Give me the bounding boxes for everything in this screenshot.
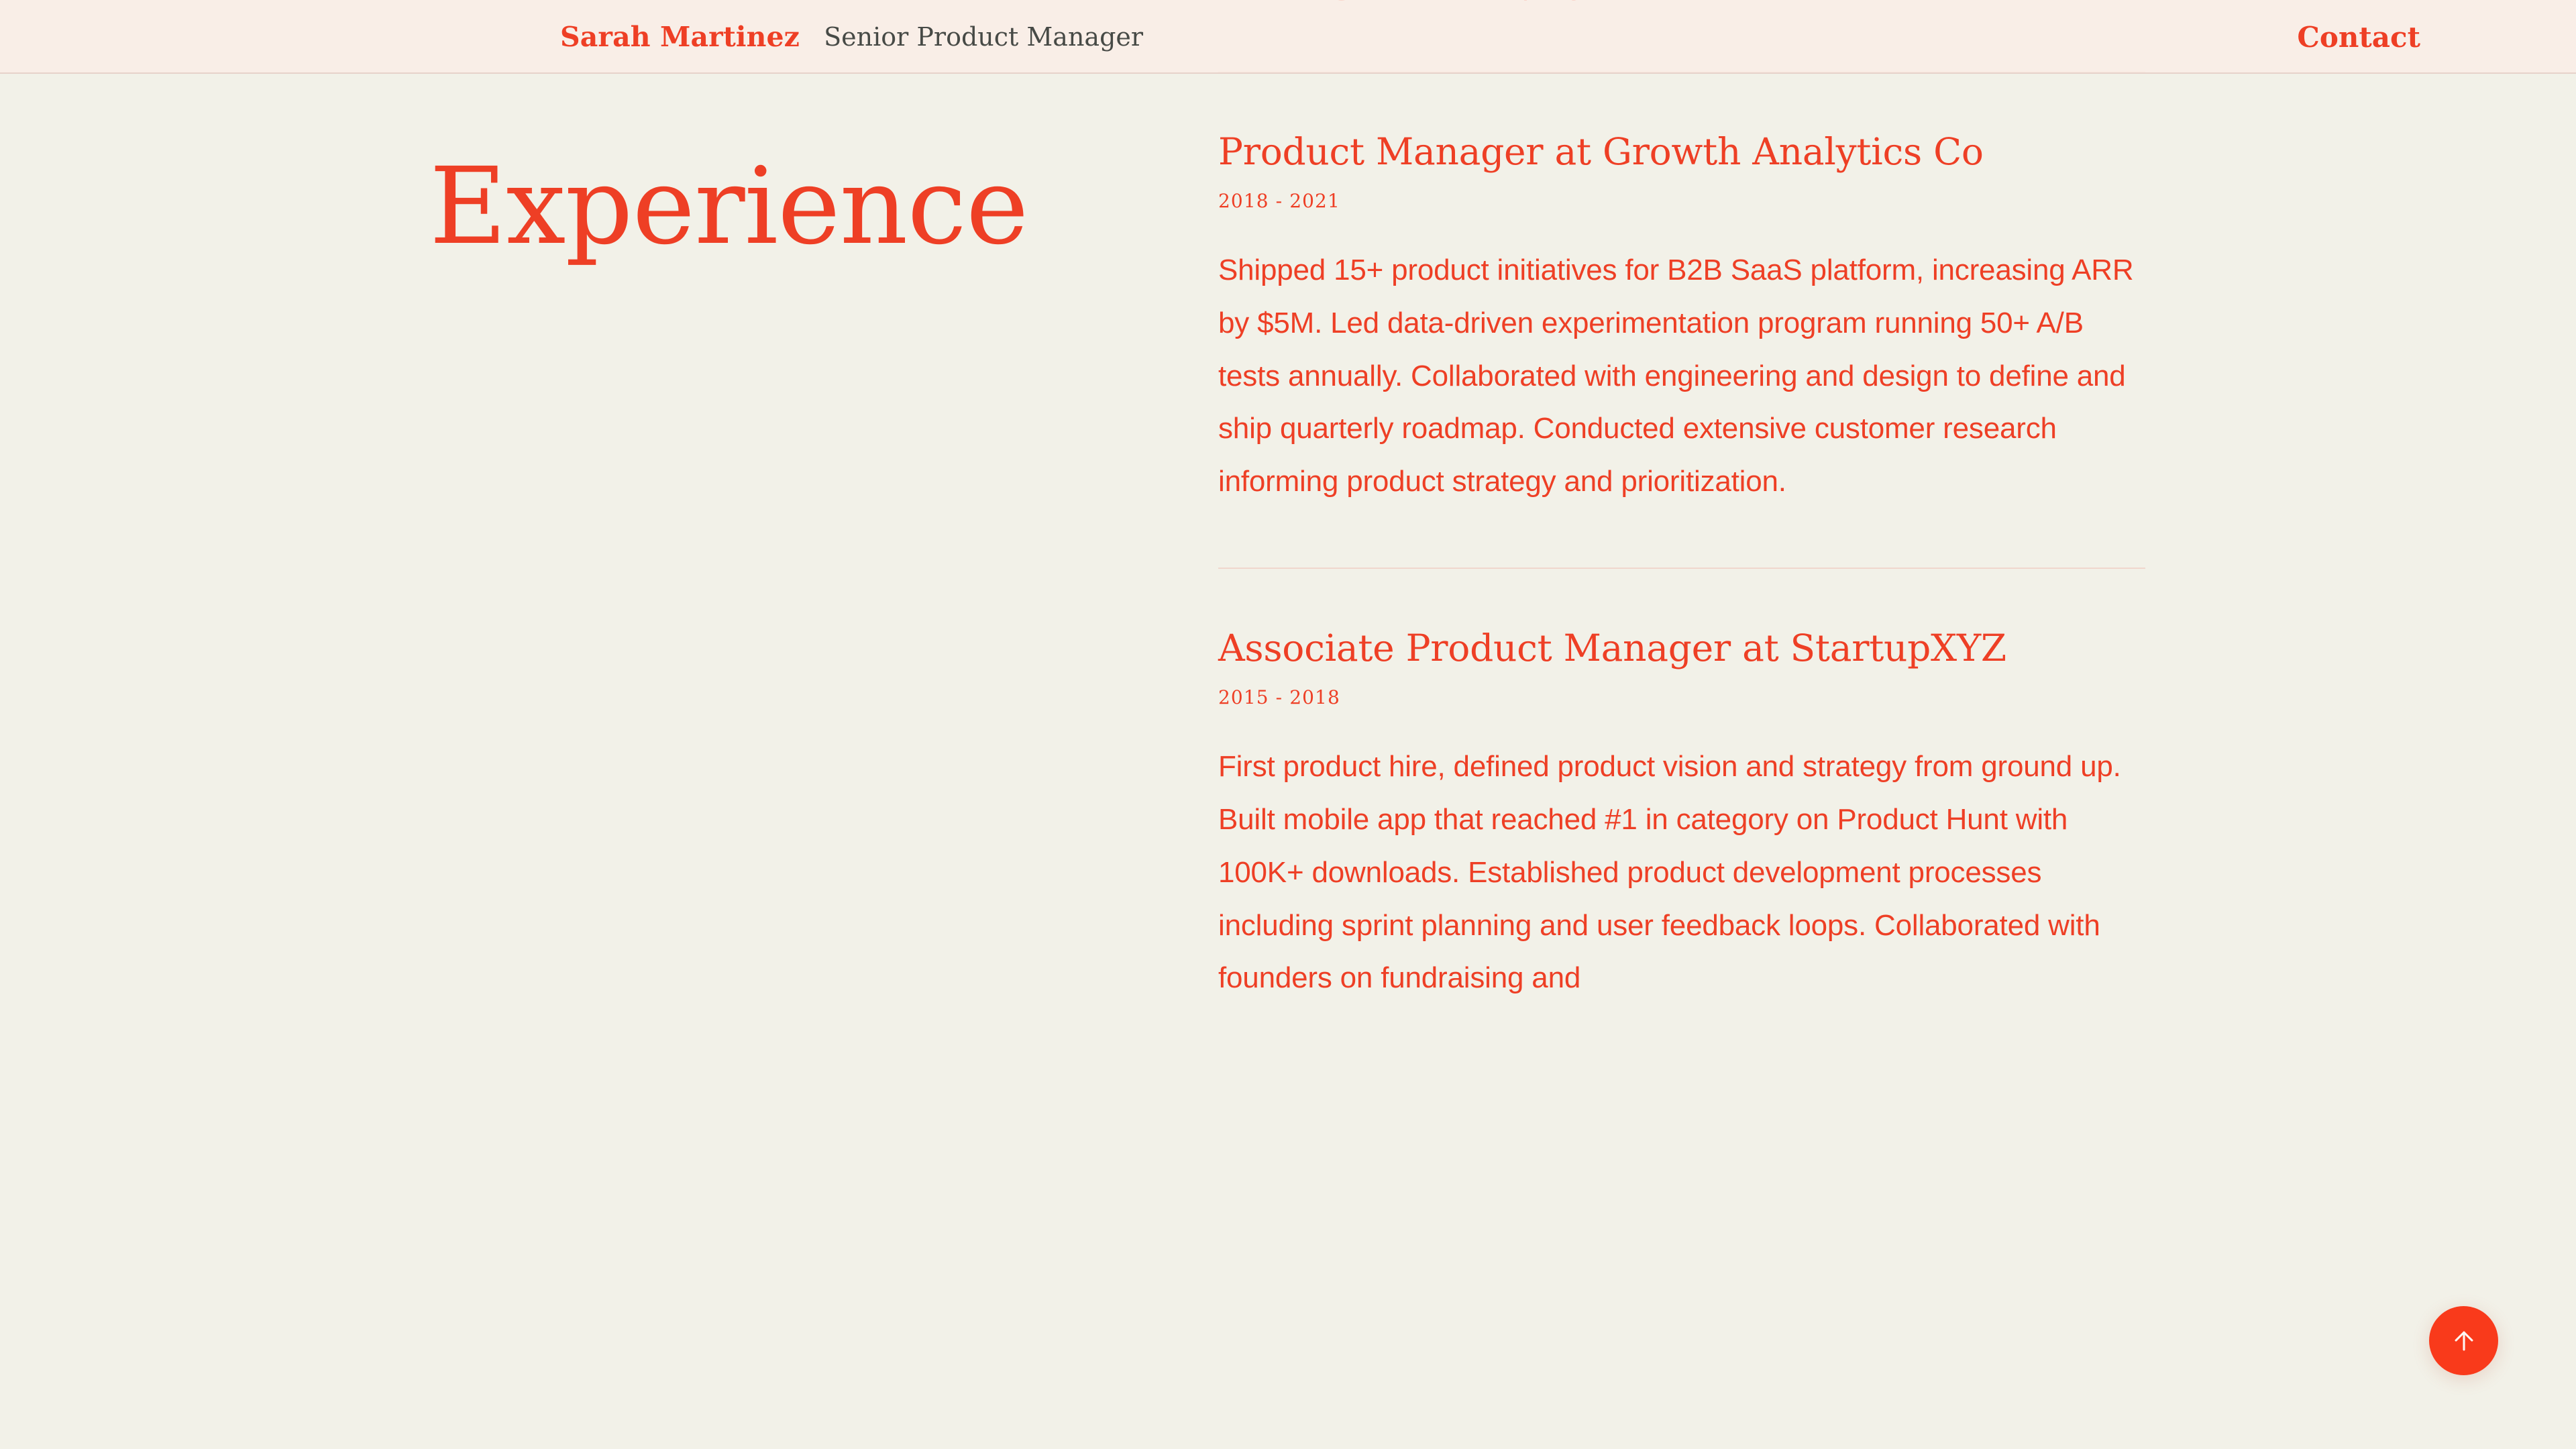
scroll-to-top-button[interactable] (2429, 1306, 2498, 1375)
entry-divider (1218, 568, 2145, 569)
arrow-up-icon (2449, 1326, 2479, 1356)
brand-name[interactable]: Sarah Martinez (560, 21, 800, 53)
entry-description: Shipped 15+ product initiatives for B2B … (1218, 244, 2151, 508)
section-heading-column: Experience (429, 153, 1154, 261)
entry-description: First product hire, defined product visi… (1218, 741, 2151, 1005)
entry-title: Associate Product Manager at StartupXYZ (1218, 628, 2151, 669)
nav-link-contact[interactable]: Contact (2297, 21, 2420, 54)
experience-entry: Product Manager at Growth Analytics Co 2… (1218, 131, 2151, 508)
entry-dates: 2018 - 2021 (1218, 190, 2151, 212)
brand-role: Senior Product Manager (824, 22, 1143, 52)
entry-dates: 2015 - 2018 (1218, 686, 2151, 708)
experience-entries-list: engineers, designers, and analysts. Defi… (1218, 0, 2151, 1005)
header-nav: Contact (2297, 0, 2576, 74)
site-header: Sarah Martinez Senior Product Manager Co… (0, 0, 2576, 74)
page-scroll-container[interactable]: engineers, designers, and analysts. Defi… (0, 0, 2576, 1449)
header-identity[interactable]: Sarah Martinez Senior Product Manager (560, 0, 1143, 74)
entry-title: Product Manager at Growth Analytics Co (1218, 131, 2151, 173)
experience-entry: Associate Product Manager at StartupXYZ … (1218, 628, 2151, 1005)
page-title: Experience (429, 153, 1154, 261)
